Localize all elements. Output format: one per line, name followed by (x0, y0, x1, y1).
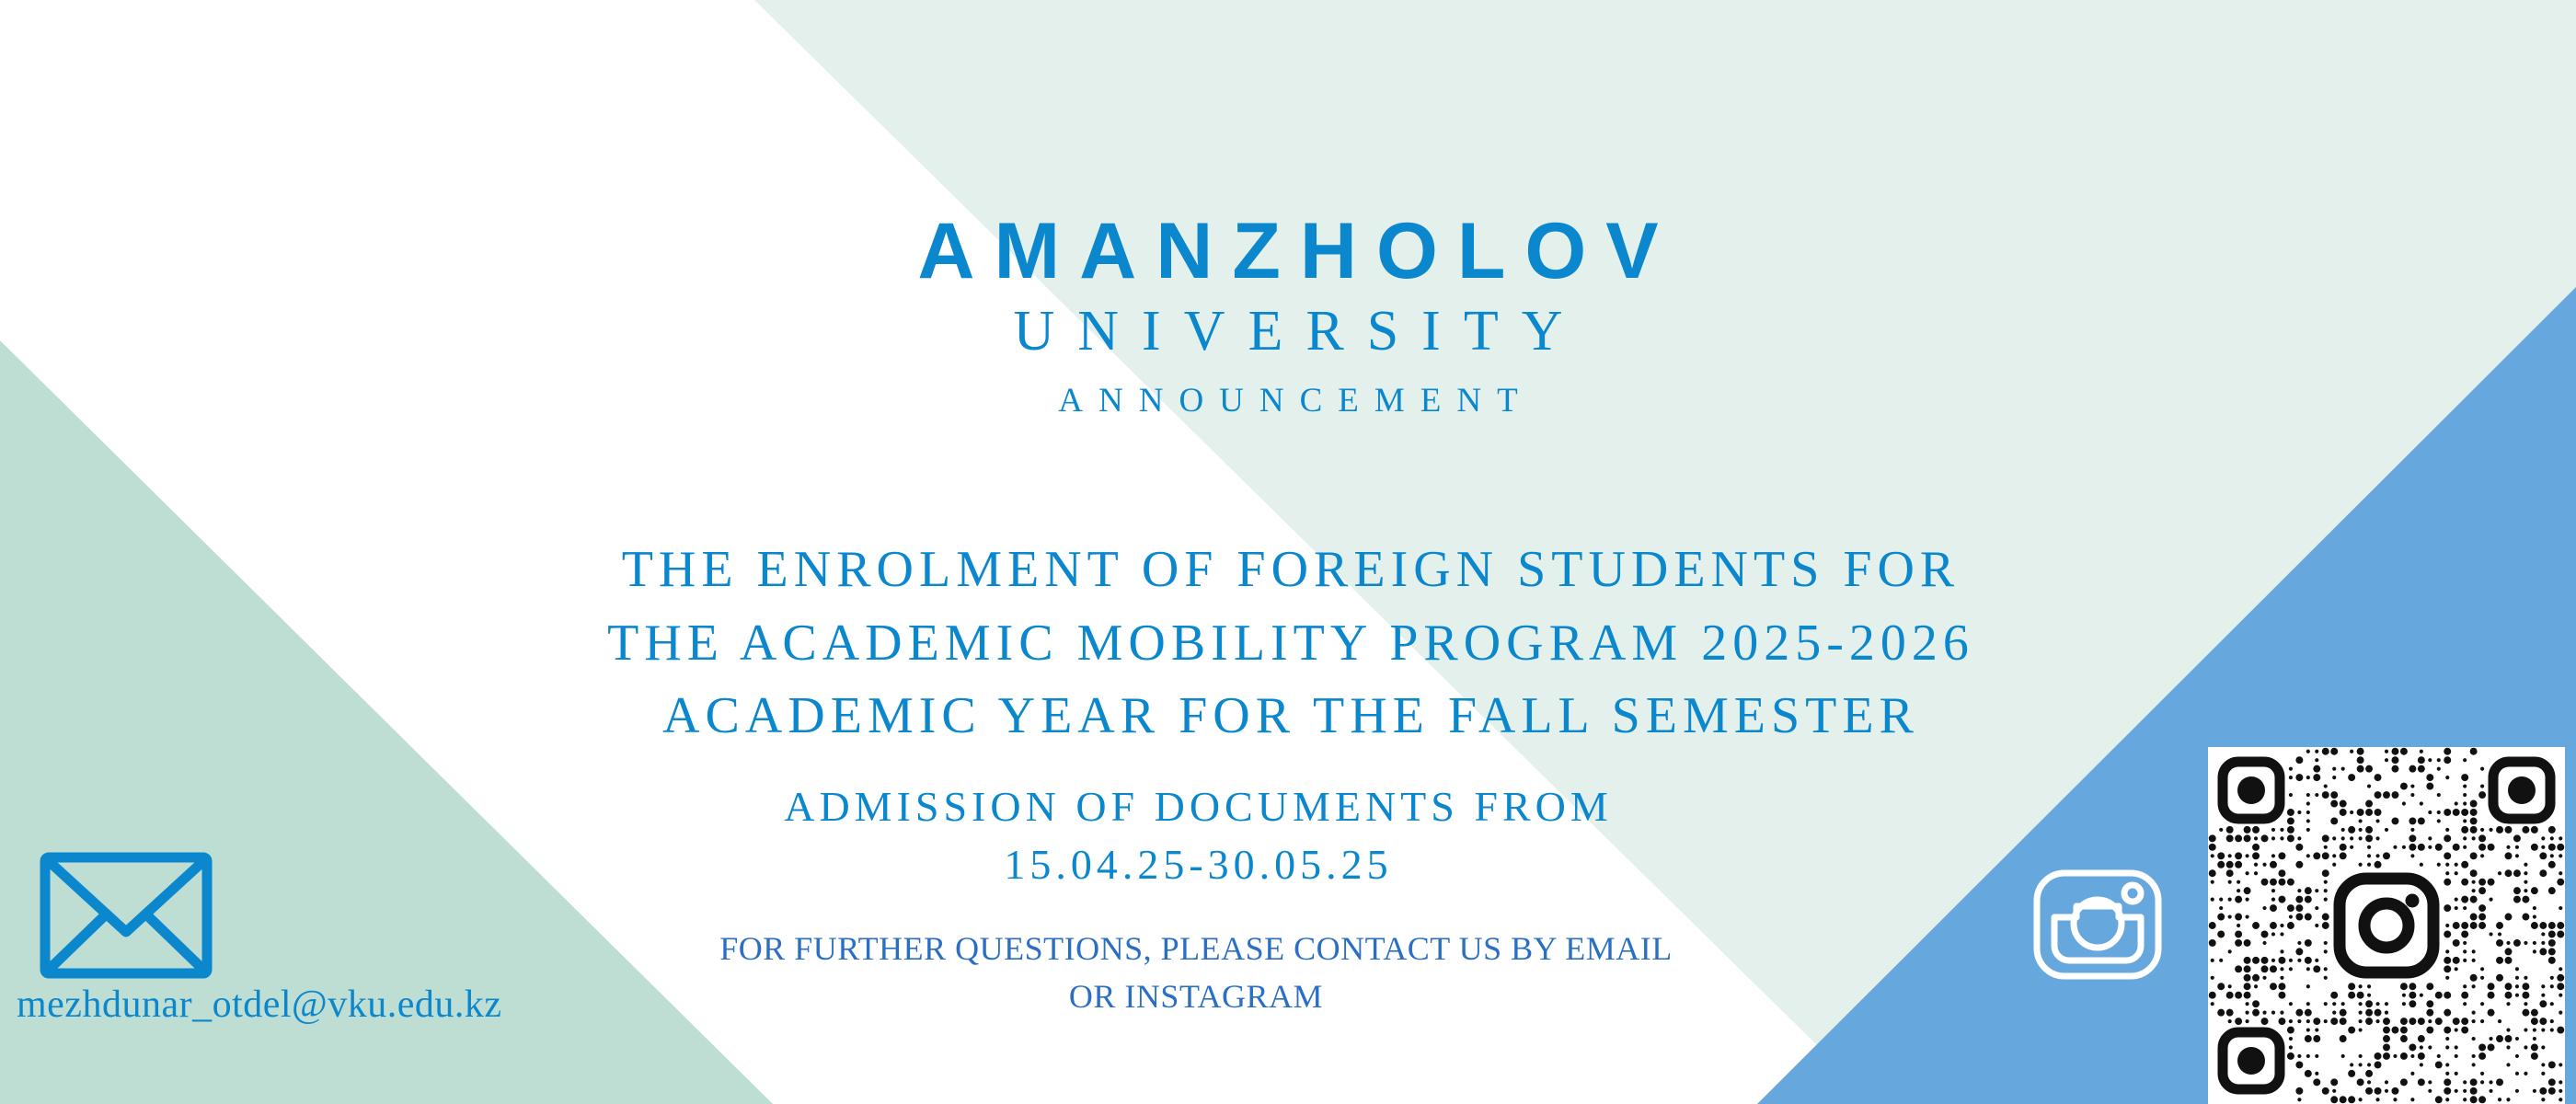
instagram-camera-icon[interactable] (2029, 865, 2167, 984)
headline: THE ENROLMENT OF FOREIGN STUDENTS FOR TH… (239, 534, 2337, 753)
announcement-poster: AMANZHOLOV UNIVERSITY ANNOUNCEMENT THE E… (0, 0, 2576, 1104)
announcement-kicker: ANNOUNCEMENT (0, 374, 2576, 428)
instagram-qr-code[interactable] (2208, 747, 2565, 1104)
header-block: AMANZHOLOV UNIVERSITY ANNOUNCEMENT (0, 212, 2576, 428)
contact-note: FOR FURTHER QUESTIONS, PLEASE CONTACT US… (423, 925, 1969, 1020)
headline-line-1: THE ENROLMENT OF FOREIGN STUDENTS FOR (239, 534, 2337, 607)
contact-note-line-1: FOR FURTHER QUESTIONS, PLEASE CONTACT US… (423, 925, 1969, 972)
headline-line-2: THE ACADEMIC MOBILITY PROGRAM 2025-2026 (239, 607, 2337, 681)
qr-code-graphic (2208, 747, 2565, 1104)
envelope-icon (39, 851, 213, 980)
brand-subtitle: UNIVERSITY (0, 291, 2576, 374)
contact-note-line-2: OR INSTAGRAM (423, 972, 1969, 1020)
qr-center-instagram-icon (2340, 879, 2433, 972)
admission-label: ADMISSION OF DOCUMENTS FROM (368, 777, 2024, 835)
email-contact-block[interactable]: mezhdunar_otdel@vku.edu.kz (17, 851, 502, 1024)
brand-name: AMANZHOLOV (0, 212, 2576, 291)
admission-period: ADMISSION OF DOCUMENTS FROM 15.04.25-30.… (368, 777, 2024, 893)
email-address[interactable]: mezhdunar_otdel@vku.edu.kz (17, 985, 502, 1024)
admission-dates: 15.04.25-30.05.25 (368, 835, 2024, 893)
headline-line-3: ACADEMIC YEAR FOR THE FALL SEMESTER (239, 680, 2337, 753)
